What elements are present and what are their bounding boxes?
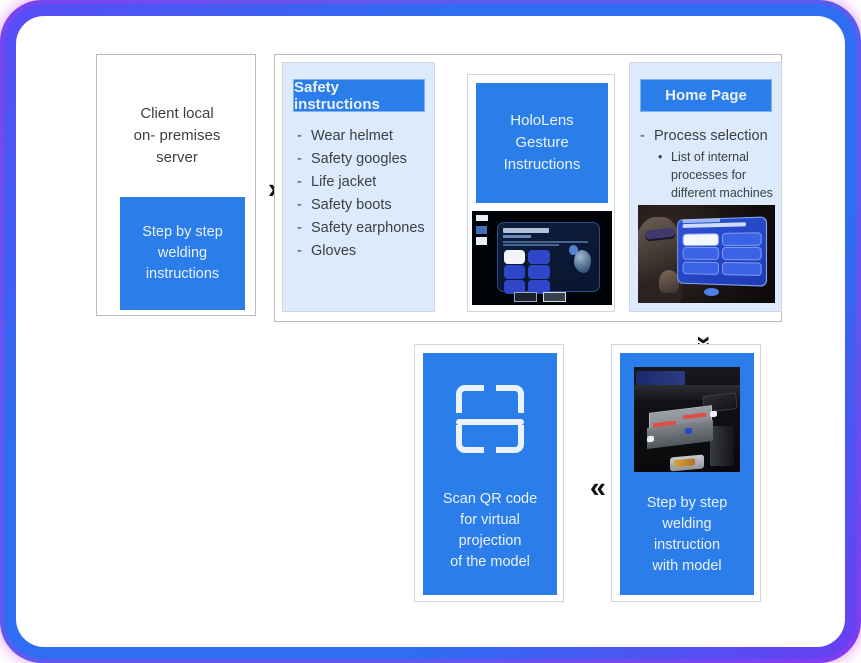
diagram-canvas: Client local on- premises server Step by… [16,16,845,647]
server-node-title-line1: Client local [140,103,213,125]
panel-safety-instructions[interactable]: Safety instructions - Wear helmet - Safe… [282,62,435,312]
list-marker: - [297,171,311,194]
home-page-sublist: • List of internal processes for differe… [658,148,782,202]
glow-frame: Client local on- premises server Step by… [0,0,861,663]
panel-welding-result[interactable]: Step by step welding instruction with mo… [611,344,761,602]
gesture-tile [504,250,525,264]
list-item-label: Process selection [654,125,768,148]
gesture-panel-text-line [503,241,588,243]
gesture-panel-subtitle [503,235,531,238]
qr-corner-top-left [456,385,484,413]
list-item: - Safety boots [297,194,433,217]
list-item: - Safety googles [297,148,433,171]
scan-caption-line1: Scan QR code [443,489,537,510]
list-item-label: List of internal [671,148,749,166]
safety-instructions-list: - Wear helmet - Safety googles - Life ja… [297,125,433,262]
list-item: • List of internal [658,148,782,166]
result-caption-line3: instruction [654,535,720,556]
menu-card [682,233,718,246]
server-tile-line3: instructions [146,264,219,285]
list-marker: - [297,240,311,263]
list-marker-spacer [658,166,671,184]
list-item: - Safety earphones [297,217,433,240]
list-item-cont: different machines [658,184,782,202]
qr-corner-top-right [496,385,524,413]
result-caption-line2: welding [662,514,711,535]
panel-hololens-gestures[interactable]: HoloLens Gesture Instructions [467,74,615,312]
server-tile-line2: welding [158,243,207,264]
list-item-label: different machines [671,184,773,202]
list-marker: - [297,194,311,217]
server-node: Client local on- premises server Step by… [96,54,256,316]
home-page-header: Home Page [640,79,772,112]
screenshot-side-icon [476,237,487,245]
screenshot-logo [476,215,489,222]
photo-hand [659,270,680,294]
list-item-label: Life jacket [311,171,376,194]
gesture-panel [497,222,600,292]
list-item-label: Safety googles [311,148,407,171]
list-marker: • [658,148,671,166]
qr-scan-line [456,419,524,425]
hololens-header-line3: Instructions [504,154,581,176]
list-item: - Wear helmet [297,125,433,148]
result-caption-line4: with model [652,556,721,577]
gesture-tile [528,250,549,264]
scan-qr-tile[interactable]: Scan QR code for virtual projection of t… [423,353,557,595]
list-item-cont: processes for [658,166,782,184]
home-page-list: - Process selection • List of internal p… [640,125,782,202]
home-page-photo [638,205,775,303]
list-marker: - [297,217,311,240]
gesture-panel-title [503,228,548,233]
gesture-tile [528,265,549,279]
menu-card [722,261,762,275]
server-node-title-line3: server [156,147,198,169]
qr-corner-bottom-right [496,425,524,453]
list-item-label: Wear helmet [311,125,393,148]
server-tile-line1: Step by step [142,222,223,243]
gesture-panel-text-line [503,244,558,246]
result-caption-line1: Step by step [647,493,728,514]
chevron-left-icon: « [582,470,614,506]
scan-caption-line2: for virtual [460,510,520,531]
list-item-label: processes for [671,166,746,184]
hololens-gesture-header: HoloLens Gesture Instructions [476,83,608,203]
list-item: - Process selection [640,125,782,148]
photo-monitor [636,371,685,385]
scan-caption-line4: of the model [450,552,530,573]
photo-holographic-menu [677,216,767,286]
list-item-label: Gloves [311,240,356,263]
qr-scan-icon [456,385,524,453]
menu-card [682,247,718,260]
list-marker: - [297,125,311,148]
photo-menu-anchor [704,288,719,296]
hololens-header-line1: HoloLens [510,110,573,132]
server-node-title: Client local on- premises server [105,101,249,171]
list-marker-spacer [658,184,671,202]
gesture-tile [504,265,525,279]
photo-table-legs [710,426,733,466]
server-node-tile[interactable]: Step by step welding instructions [120,197,245,310]
hololens-gesture-screenshot [472,211,612,305]
server-node-title-line2: on- premises [134,125,221,147]
gesture-hand-illustration [574,250,591,273]
safety-instructions-header: Safety instructions [293,79,425,112]
screenshot-back-button [514,292,537,302]
panel-home-page[interactable]: Home Page - Process selection • List of … [629,62,782,312]
welding-result-tile[interactable]: Step by step welding instruction with mo… [620,353,754,595]
scan-caption-line3: projection [459,531,522,552]
screenshot-next-button [543,292,566,302]
qr-corner-bottom-left [456,425,484,453]
hololens-header-line2: Gesture [515,132,568,154]
menu-card [682,261,718,274]
list-item-label: Safety boots [311,194,392,217]
list-marker: - [297,148,311,171]
list-item: - Gloves [297,240,433,263]
menu-card [722,247,762,261]
panel-scan-qr[interactable]: Scan QR code for virtual projection of t… [414,344,564,602]
welding-workbench-photo [634,367,740,472]
menu-card [722,232,762,246]
list-item: - Life jacket [297,171,433,194]
screenshot-side-icon [476,226,487,234]
list-marker: - [640,125,654,148]
list-item-label: Safety earphones [311,217,425,240]
